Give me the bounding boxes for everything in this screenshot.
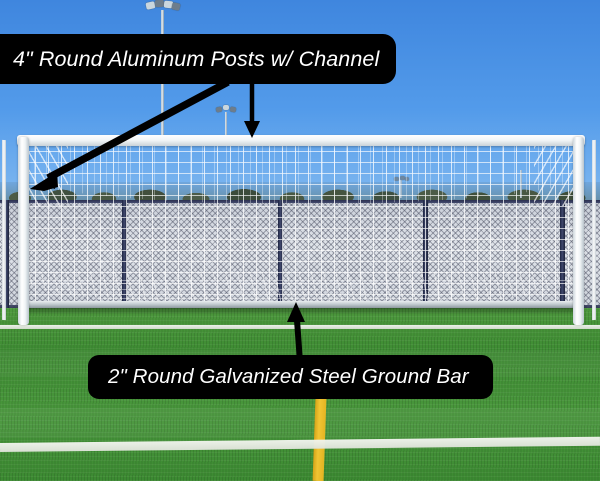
goal-net-wing-left [2, 140, 6, 320]
ground-bar-shadow [26, 308, 576, 313]
stadium-light-pole-short-head [216, 105, 236, 114]
annotation-label-ground-bar: 2" Round Galvanized Steel Ground Bar [88, 355, 493, 399]
goal-net-corner-left [28, 146, 68, 206]
lamp-fixture [223, 105, 229, 110]
goal-line [0, 325, 600, 329]
product-photo-annotated: 4" Round Aluminum Posts w/ Channel 2" Ro… [0, 0, 600, 481]
turf-mow-band [0, 408, 600, 438]
stadium-light-pole-tall-head [146, 0, 180, 12]
lamp-fixture [216, 106, 223, 112]
goal-net-corner-right [534, 146, 574, 206]
annotation-label-posts: 4" Round Aluminum Posts w/ Channel [0, 34, 396, 84]
ground-bar [24, 301, 576, 308]
goal-crossbar [17, 135, 585, 146]
lamp-fixture [230, 106, 237, 112]
goal-post-right [573, 137, 584, 325]
goal-net-wing-right [592, 140, 596, 320]
goal-post-left [18, 137, 29, 325]
lamp-fixture [171, 2, 180, 11]
goal-net-top-sag [22, 144, 578, 204]
